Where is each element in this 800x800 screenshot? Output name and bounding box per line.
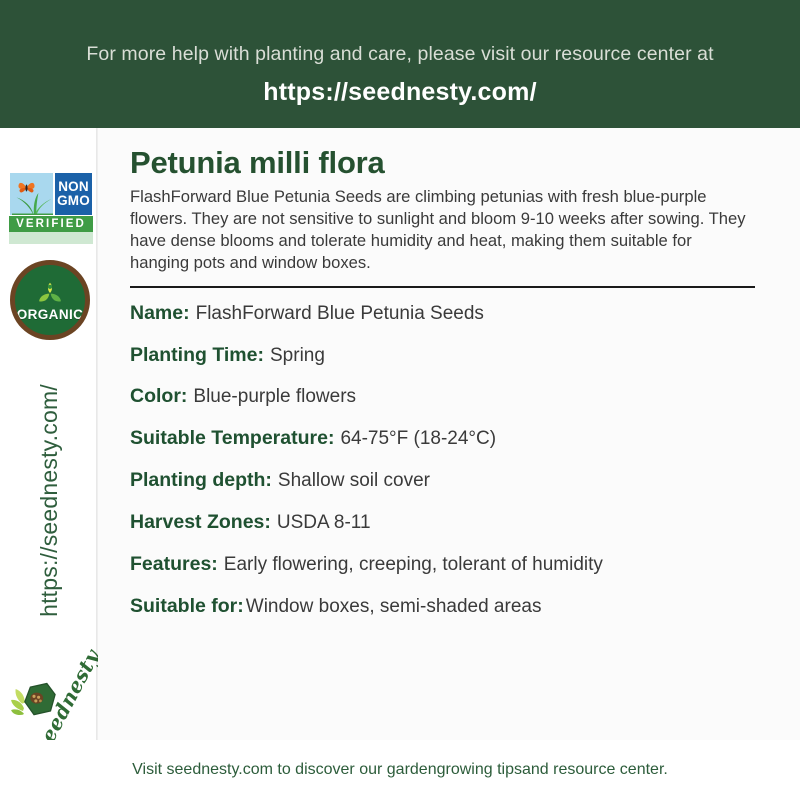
spec-row-name: Name: FlashForward Blue Petunia Seeds (130, 302, 758, 325)
spec-value: Shallow soil cover (278, 470, 430, 492)
footer-text: Visit seednesty.com to discover our gard… (132, 761, 668, 779)
non-gmo-verified-bar: VERIFIED (9, 216, 93, 232)
spec-label: Features: (130, 553, 218, 575)
product-description: FlashForward Blue Petunia Seeds are clim… (130, 186, 755, 274)
spec-label: Suitable Temperature: (130, 427, 334, 449)
footer-banner: Visit seednesty.com to discover our gard… (0, 740, 800, 800)
organic-label: ORGANIC (17, 307, 84, 322)
header-website-url[interactable]: https://seednesty.com/ (263, 78, 536, 107)
header-help-text: For more help with planting and care, pl… (86, 43, 713, 66)
brand-wordmark: seednesty (44, 666, 90, 736)
spec-label: Color: (130, 385, 187, 407)
spec-value: Early flowering, creeping, tolerant of h… (224, 554, 603, 576)
spec-row-color: Color: Blue-purple flowers (130, 385, 758, 408)
spec-list: Name: FlashForward Blue Petunia Seeds Pl… (130, 302, 758, 618)
spec-row-features: Features: Early flowering, creeping, tol… (130, 553, 758, 576)
spec-row-suitable-for: Suitable for: Window boxes, semi-shaded … (130, 595, 758, 618)
spec-row-planting-time: Planting Time: Spring (130, 344, 758, 367)
left-sidebar: NON GMO VERIFIED ORGANIC https://seednes… (0, 128, 98, 740)
spec-row-suitable-temperature: Suitable Temperature: 64-75°F (18-24°C) (130, 427, 758, 450)
non-gmo-verified-badge: NON GMO VERIFIED (9, 172, 93, 244)
non-gmo-line1: NON (58, 180, 89, 194)
sidebar-vertical-url[interactable]: https://seednesty.com/ (0, 350, 98, 650)
non-gmo-text-panel: NON GMO (54, 172, 93, 216)
section-divider (130, 286, 755, 288)
spec-label: Planting depth: (130, 469, 272, 491)
grass-icon (12, 191, 54, 216)
spec-value: Blue-purple flowers (193, 386, 356, 408)
seed-packet-label: For more help with planting and care, pl… (0, 0, 800, 800)
main-content-panel: Petunia milli flora FlashForward Blue Pe… (98, 128, 800, 740)
non-gmo-badge-top: NON GMO (9, 172, 93, 216)
spec-row-harvest-zones: Harvest Zones: USDA 8-11 (130, 511, 758, 534)
spec-value: 64-75°F (18-24°C) (340, 428, 496, 450)
spec-value: Window boxes, semi-shaded areas (246, 596, 542, 618)
spec-row-planting-depth: Planting depth: Shallow soil cover (130, 469, 758, 492)
sidebar-vertical-url-text: https://seednesty.com/ (36, 384, 63, 617)
organic-badge: ORGANIC (10, 260, 90, 340)
spec-value: Spring (270, 345, 325, 367)
seednesty-logo: seednesty (4, 660, 96, 740)
spec-label: Planting Time: (130, 344, 264, 366)
header-banner: For more help with planting and care, pl… (0, 0, 800, 128)
spec-label: Suitable for: (130, 595, 244, 617)
spec-value: USDA 8-11 (277, 512, 371, 534)
leaf-emblem-icon (36, 280, 64, 306)
page-title: Petunia milli flora (130, 146, 758, 180)
spec-label: Name: (130, 302, 190, 324)
non-gmo-line2: GMO (57, 194, 90, 208)
non-gmo-sky-panel (9, 172, 54, 216)
non-gmo-footer-pattern (9, 232, 93, 244)
spec-label: Harvest Zones: (130, 511, 271, 533)
spec-value: FlashForward Blue Petunia Seeds (196, 303, 484, 325)
